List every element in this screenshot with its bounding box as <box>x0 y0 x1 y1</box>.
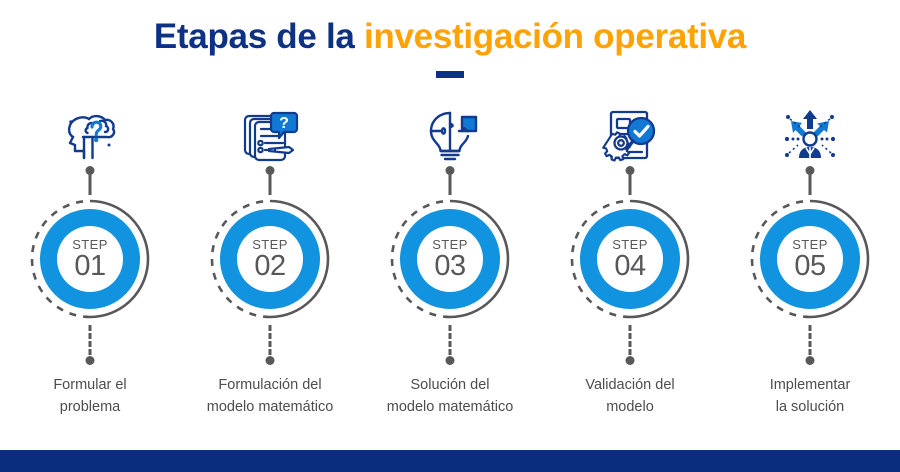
step-caption: Implementar la solución <box>726 375 894 419</box>
connector-ring-to-caption <box>263 325 277 365</box>
steps-row: STEP 01 Formular el problema <box>0 104 900 419</box>
step-caption-line2: problema <box>6 397 174 419</box>
head-brain-question-icon <box>54 104 126 166</box>
page-title-primary: Etapas de la <box>154 17 364 56</box>
step-caption-line2: modelo matemático <box>186 397 354 419</box>
step-label-group: STEP 05 <box>777 226 843 292</box>
documents-question-pencil-icon: ? <box>234 104 306 166</box>
step-word: STEP <box>432 238 468 251</box>
step-badge[interactable]: STEP 01 <box>24 193 156 325</box>
connector-dashed-stem <box>89 325 92 355</box>
title-divider-dash <box>436 71 464 78</box>
step-caption-line2: la solución <box>726 397 894 419</box>
connector-ring-to-caption <box>443 325 457 365</box>
step-label-group: STEP 01 <box>57 226 123 292</box>
connector-dot <box>626 356 635 365</box>
step-donut: STEP 03 <box>400 209 500 309</box>
detached-puzzle-piece <box>462 117 476 131</box>
connector-ring-to-caption <box>83 325 97 365</box>
step-label-group: STEP 02 <box>237 226 303 292</box>
step-caption-line1: Formular el <box>6 375 174 397</box>
step-donut: STEP 04 <box>580 209 680 309</box>
person <box>799 133 821 159</box>
step-item-01[interactable]: STEP 01 Formular el problema <box>0 104 180 419</box>
step-caption: Formulación del modelo matemático <box>186 375 354 419</box>
connector-dot <box>446 356 455 365</box>
magnifier-check <box>627 118 654 149</box>
step-caption-line1: Implementar <box>726 375 894 397</box>
pencil <box>269 147 293 153</box>
step-badge[interactable]: STEP 02 <box>204 193 336 325</box>
connector-stem <box>89 173 92 195</box>
svg-text:?: ? <box>279 115 289 132</box>
connector-dashed-stem <box>269 325 272 355</box>
step-number: 01 <box>74 252 105 281</box>
connector-dot <box>86 356 95 365</box>
connector-stem <box>629 173 632 195</box>
step-number: 02 <box>254 252 285 281</box>
step-number: 03 <box>434 252 465 281</box>
connector-dashed-stem <box>809 325 812 355</box>
step-word: STEP <box>612 238 648 251</box>
connector-stem <box>269 173 272 195</box>
step-donut: STEP 02 <box>220 209 320 309</box>
step-caption: Solución del modelo matemático <box>366 375 534 419</box>
step-donut: STEP 01 <box>40 209 140 309</box>
step-caption: Formular el problema <box>6 375 174 419</box>
step-caption-line2: modelo <box>546 397 714 419</box>
step-badge[interactable]: STEP 04 <box>564 193 696 325</box>
connector-icon-to-ring <box>443 166 457 194</box>
step-word: STEP <box>252 238 288 251</box>
step-caption-line1: Validación del <box>546 375 714 397</box>
step-badge[interactable]: STEP 05 <box>744 193 876 325</box>
connector-stem <box>809 173 812 195</box>
connector-icon-to-ring <box>263 166 277 194</box>
step-item-05[interactable]: STEP 05 Implementar la solución <box>720 104 900 419</box>
step-badge[interactable]: STEP 03 <box>384 193 516 325</box>
step-label-group: STEP 03 <box>417 226 483 292</box>
step-donut: STEP 05 <box>760 209 860 309</box>
connector-icon-to-ring <box>623 166 637 194</box>
step-caption: Validación del modelo <box>546 375 714 419</box>
page-title: Etapas de la investigación operativa <box>0 18 900 57</box>
connector-dot <box>266 356 275 365</box>
step-label-group: STEP 04 <box>597 226 663 292</box>
lightbulb-puzzle-icon <box>414 104 486 166</box>
connector-icon-to-ring <box>803 166 817 194</box>
page-title-accent: investigación operativa <box>364 17 746 56</box>
person-arrows-network-icon <box>774 104 846 166</box>
connector-dot <box>806 356 815 365</box>
footer-bar <box>0 450 900 472</box>
gear <box>603 132 630 160</box>
step-caption-line2: modelo matemático <box>366 397 534 419</box>
step-caption-line1: Formulación del <box>186 375 354 397</box>
connector-dashed-stem <box>449 325 452 355</box>
step-number: 04 <box>614 252 645 281</box>
connector-icon-to-ring <box>83 166 97 194</box>
connector-ring-to-caption <box>803 325 817 365</box>
step-item-04[interactable]: STEP 04 Validación del modelo <box>540 104 720 419</box>
step-word: STEP <box>792 238 828 251</box>
step-item-03[interactable]: STEP 03 Solución del modelo matemático <box>360 104 540 419</box>
connector-dashed-stem <box>629 325 632 355</box>
document-gear-magnifier-check-icon <box>594 104 666 166</box>
step-word: STEP <box>72 238 108 251</box>
step-caption-line1: Solución del <box>366 375 534 397</box>
connector-ring-to-caption <box>623 325 637 365</box>
connector-stem <box>449 173 452 195</box>
step-number: 05 <box>794 252 825 281</box>
step-item-02[interactable]: ? STEP 02 <box>180 104 360 419</box>
